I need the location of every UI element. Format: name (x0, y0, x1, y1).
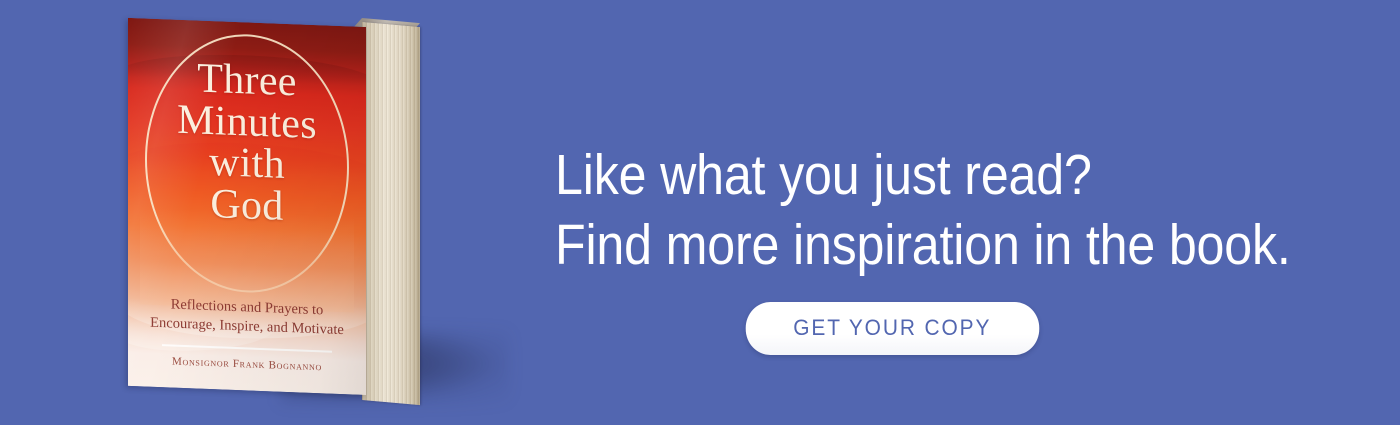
get-your-copy-button[interactable]: GET YOUR COPY (746, 302, 1039, 355)
promo-headline-line-2: Find more inspiration in the book. (555, 210, 1259, 280)
book-title: Three Minutes with God (128, 56, 366, 231)
book-page-block (362, 22, 420, 405)
book-front-cover: Three Minutes with God Reflections and P… (128, 18, 366, 395)
promo-banner: Three Minutes with God Reflections and P… (0, 0, 1400, 425)
book-cover-image: Three Minutes with God Reflections and P… (100, 0, 460, 425)
cta-row: GET YOUR COPY (555, 302, 1230, 355)
promo-headline-line-1: Like what you just read? (555, 140, 1259, 210)
promo-copy-block: Like what you just read? Find more inspi… (555, 140, 1355, 355)
